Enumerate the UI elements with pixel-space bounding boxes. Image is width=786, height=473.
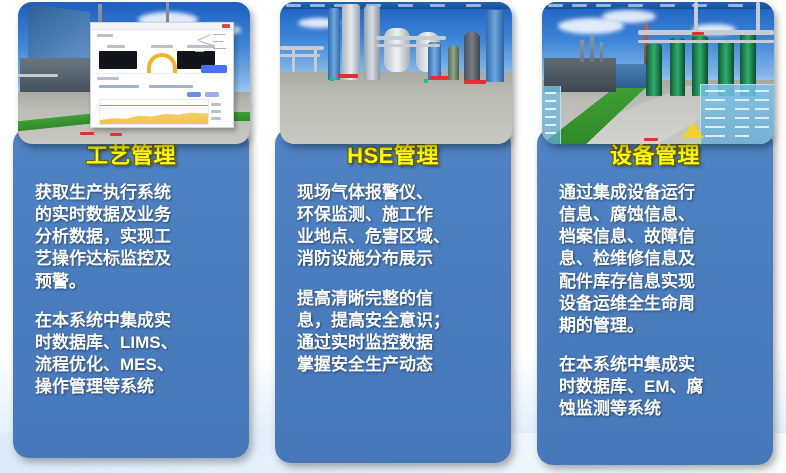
scene-equipment-plant — [542, 2, 774, 144]
viewer-sidebar[interactable] — [542, 86, 561, 144]
overhead-pipe — [638, 30, 774, 35]
viewer-navbar[interactable] — [542, 2, 774, 9]
viewer-navbar[interactable] — [280, 2, 512, 9]
equipment-vessel — [646, 44, 662, 96]
pipe-support — [314, 46, 317, 72]
arch-gauge-icon — [147, 53, 177, 73]
distillation-column — [328, 8, 340, 80]
card-paragraph: 通过集成设备运行 信息、腐蚀信息、 档案信息、故障信 息、检维修信息及 配件库存… — [559, 182, 755, 337]
section-label — [97, 77, 119, 80]
axis-tick — [211, 110, 221, 113]
pipe-riser — [694, 2, 698, 34]
card-paragraph: 在本系统中集成实 时数据库、EM、腐 蚀监测等系统 — [559, 354, 755, 420]
vessel — [448, 46, 459, 80]
reset-button[interactable] — [205, 92, 219, 97]
gas-detector-tag — [464, 80, 486, 84]
scene-process-plant — [18, 2, 250, 144]
close-icon — [222, 24, 230, 28]
equipment-tag — [644, 138, 658, 141]
cloud-icon — [602, 10, 656, 23]
kpi-label — [107, 45, 125, 48]
overhead-pipe — [376, 36, 446, 40]
section-label — [97, 34, 113, 37]
card-title-hse-management: HSE管理 — [291, 144, 495, 168]
axis-tick — [211, 117, 221, 120]
threshold-line — [100, 105, 208, 106]
panel-process-management: 工艺管理 获取生产执行系统 的实时数据及业务 分析数据，实现工 艺操作达标监控及… — [13, 128, 249, 458]
primary-action-button[interactable] — [201, 65, 227, 73]
axis-tick — [211, 103, 221, 106]
panel-equipment-management: 设备管理 通过集成设备运行 信息、腐蚀信息、 档案信息、故障信 息、检维修信息及… — [537, 128, 773, 465]
trend-chart — [99, 99, 209, 125]
kpi-label — [151, 45, 173, 48]
distillation-column — [364, 6, 380, 80]
pipe-rack — [280, 46, 324, 50]
card-paragraph: 提高清晰完整的信 息，提高安全意识； 通过实时监控数据 掌握安全生产动态 — [297, 288, 493, 376]
card-paragraph: 在本系统中集成实 时数据库、LIMS、 流程优化、MES、 操作管理等系统 — [35, 310, 231, 398]
chimney — [600, 42, 603, 62]
sensor-marker-icon — [330, 77, 334, 81]
card-paragraph: 现场气体报警仪、 环保监测、施工作 业地点、危害区域、 消防设施分布展示 — [297, 182, 493, 270]
dashboard-window — [90, 22, 234, 128]
card-thumbnail-process-management — [18, 2, 250, 144]
card-thumbnail-hse-management — [280, 2, 512, 144]
kpi-tile — [99, 51, 137, 69]
equipment-tag — [110, 133, 122, 136]
warning-triangle-icon — [682, 122, 704, 138]
vessel — [486, 10, 504, 82]
scene-hse-plant — [280, 2, 512, 144]
vessel — [428, 42, 441, 80]
card-title-process-management: 工艺管理 — [29, 144, 233, 168]
pipe-riser — [756, 2, 760, 32]
overhead-pipe — [638, 40, 774, 43]
equipment-tag — [692, 32, 704, 35]
divider — [95, 73, 229, 74]
slide-canvas: 工艺管理 获取生产执行系统 的实时数据及业务 分析数据，实现工 艺操作达标监控及… — [0, 0, 786, 473]
storage-tank — [384, 28, 410, 72]
equipment-data-table[interactable] — [700, 84, 774, 144]
equipment-tag — [80, 132, 94, 135]
apply-button[interactable] — [187, 92, 201, 97]
equipment-vessel — [670, 38, 685, 96]
chart-series-area — [100, 110, 208, 124]
panel-hse-management: HSE管理 现场气体报警仪、 环保监测、施工作 业地点、危害区域、 消防设施分布… — [275, 128, 511, 463]
distillation-column — [342, 4, 360, 80]
gas-detector-tag — [338, 74, 358, 78]
filter-label — [99, 85, 139, 88]
vessel — [464, 32, 480, 84]
sensor-marker-icon — [424, 79, 428, 83]
pipe — [18, 74, 58, 77]
chimney — [580, 40, 584, 62]
chimney — [590, 36, 594, 62]
overhead-pipe — [376, 44, 440, 47]
card-paragraph: 获取生产执行系统 的实时数据及业务 分析数据，实现工 艺操作达标监控及 预警。 — [35, 182, 231, 292]
card-title-equipment-management: 设备管理 — [553, 144, 757, 168]
filter-label — [149, 85, 193, 88]
network-diagram-icon — [193, 31, 229, 61]
pipe-support — [292, 46, 295, 72]
window-titlebar — [91, 23, 233, 30]
card-thumbnail-equipment-management — [542, 2, 774, 144]
gas-detector-tag — [430, 76, 448, 80]
